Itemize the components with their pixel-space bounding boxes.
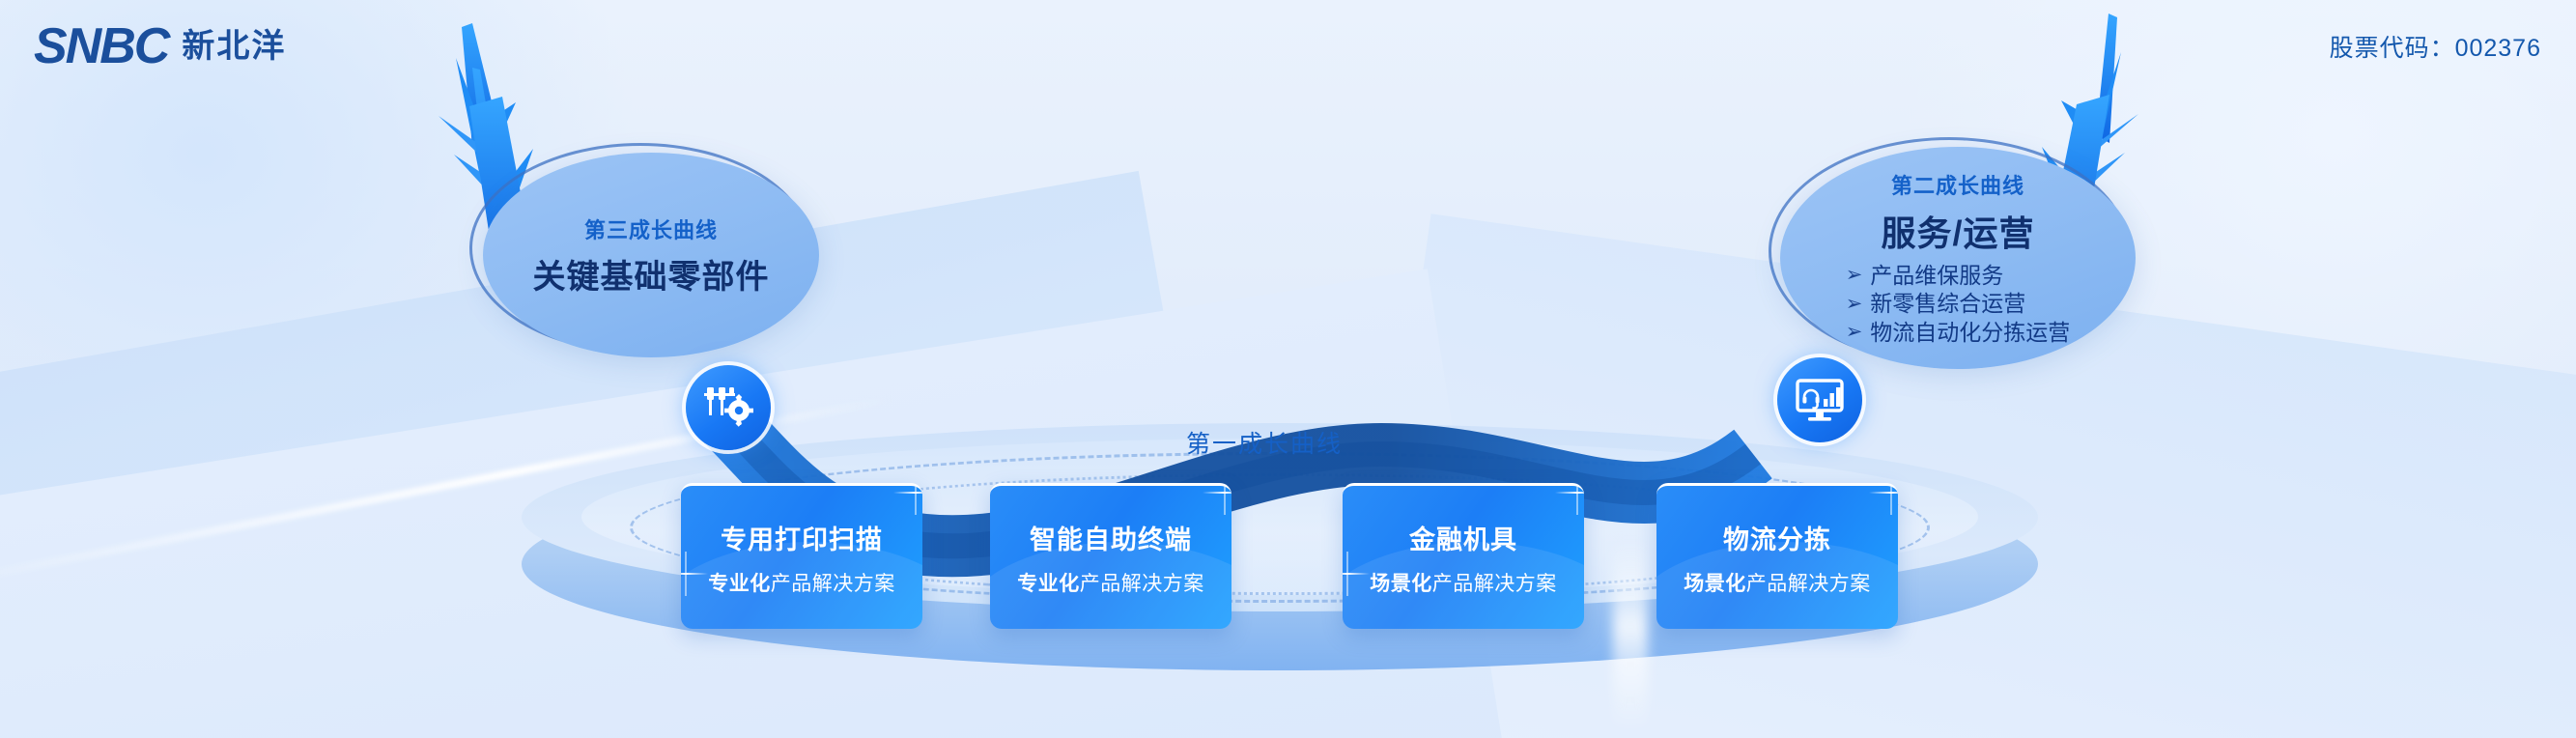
first-curve-label: 第一成长曲线 <box>1186 425 1343 460</box>
list-item: ➢ 新零售综合运营 <box>1846 290 2071 318</box>
card-subtitle-emphasis: 场景化 <box>1370 573 1432 595</box>
card-subtitle-rest: 产品解决方案 <box>771 573 895 595</box>
product-card-financial-equipment[interactable]: 金融机具 场景化产品解决方案 <box>1343 483 1584 629</box>
list-item-label: 物流自动化分拣运营 <box>1870 319 2070 347</box>
card-subtitle: 场景化产品解决方案 <box>1684 568 1871 597</box>
product-card-printing-scanning[interactable]: 专用打印扫描 专业化产品解决方案 <box>681 483 922 629</box>
card-title: 金融机具 <box>1409 519 1517 556</box>
sparkle-icon <box>1203 483 1231 515</box>
second-curve-title: 服务/运营 <box>1881 206 2034 256</box>
components-gear-icon[interactable] <box>686 365 771 450</box>
sparkle-icon <box>1555 483 1584 515</box>
card-title: 物流分拣 <box>1723 519 1831 556</box>
sparkle-icon <box>893 483 922 515</box>
bullet-arrow-icon: ➢ <box>1846 320 1863 346</box>
sparkle-icon <box>1343 552 1370 596</box>
bullet-arrow-icon: ➢ <box>1846 292 1863 318</box>
monitor-headset-chart-glyph <box>1794 374 1846 426</box>
slide-canvas: SNBC 新北洋 股票代码：002376 <box>0 0 2576 738</box>
card-subtitle-rest: 产品解决方案 <box>1080 573 1204 595</box>
components-gear-glyph <box>702 382 754 434</box>
card-subtitle: 场景化产品解决方案 <box>1370 568 1557 597</box>
list-item-label: 新零售综合运营 <box>1870 290 2025 318</box>
card-subtitle: 专业化产品解决方案 <box>1017 568 1204 597</box>
card-subtitle-rest: 产品解决方案 <box>1746 573 1871 595</box>
second-curve-label: 第二成长曲线 <box>1891 169 2024 200</box>
card-subtitle-emphasis: 专业化 <box>1017 573 1080 595</box>
sparkle-icon <box>681 552 708 596</box>
third-curve-title: 关键基础零部件 <box>533 250 770 298</box>
list-item: ➢ 物流自动化分拣运营 <box>1846 319 2071 347</box>
list-item-label: 产品维保服务 <box>1870 262 2003 290</box>
product-card-logistics-sorting[interactable]: 物流分拣 场景化产品解决方案 <box>1656 483 1898 629</box>
monitor-headset-chart-icon[interactable] <box>1777 357 1862 442</box>
card-title: 专用打印扫描 <box>721 519 883 556</box>
bullet-arrow-icon: ➢ <box>1846 263 1863 289</box>
card-subtitle-emphasis: 专业化 <box>708 573 771 595</box>
list-item: ➢ 产品维保服务 <box>1846 262 2071 290</box>
growth-curve-graphic <box>0 0 2576 738</box>
card-title: 智能自助终端 <box>1030 519 1192 556</box>
third-curve-label: 第三成长曲线 <box>584 213 718 244</box>
product-card-self-service-terminal[interactable]: 智能自助终端 专业化产品解决方案 <box>990 483 1231 629</box>
second-curve-bubble[interactable]: 第二成长曲线 服务/运营 ➢ 产品维保服务 ➢ 新零售综合运营 ➢ 物流自动化分… <box>1780 147 2136 369</box>
card-subtitle: 专业化产品解决方案 <box>708 568 895 597</box>
card-subtitle-rest: 产品解决方案 <box>1432 573 1557 595</box>
sparkle-icon <box>1869 483 1898 515</box>
second-curve-item-list: ➢ 产品维保服务 ➢ 新零售综合运营 ➢ 物流自动化分拣运营 <box>1846 262 2071 347</box>
card-subtitle-emphasis: 场景化 <box>1684 573 1746 595</box>
third-curve-bubble[interactable]: 第三成长曲线 关键基础零部件 <box>483 153 819 357</box>
